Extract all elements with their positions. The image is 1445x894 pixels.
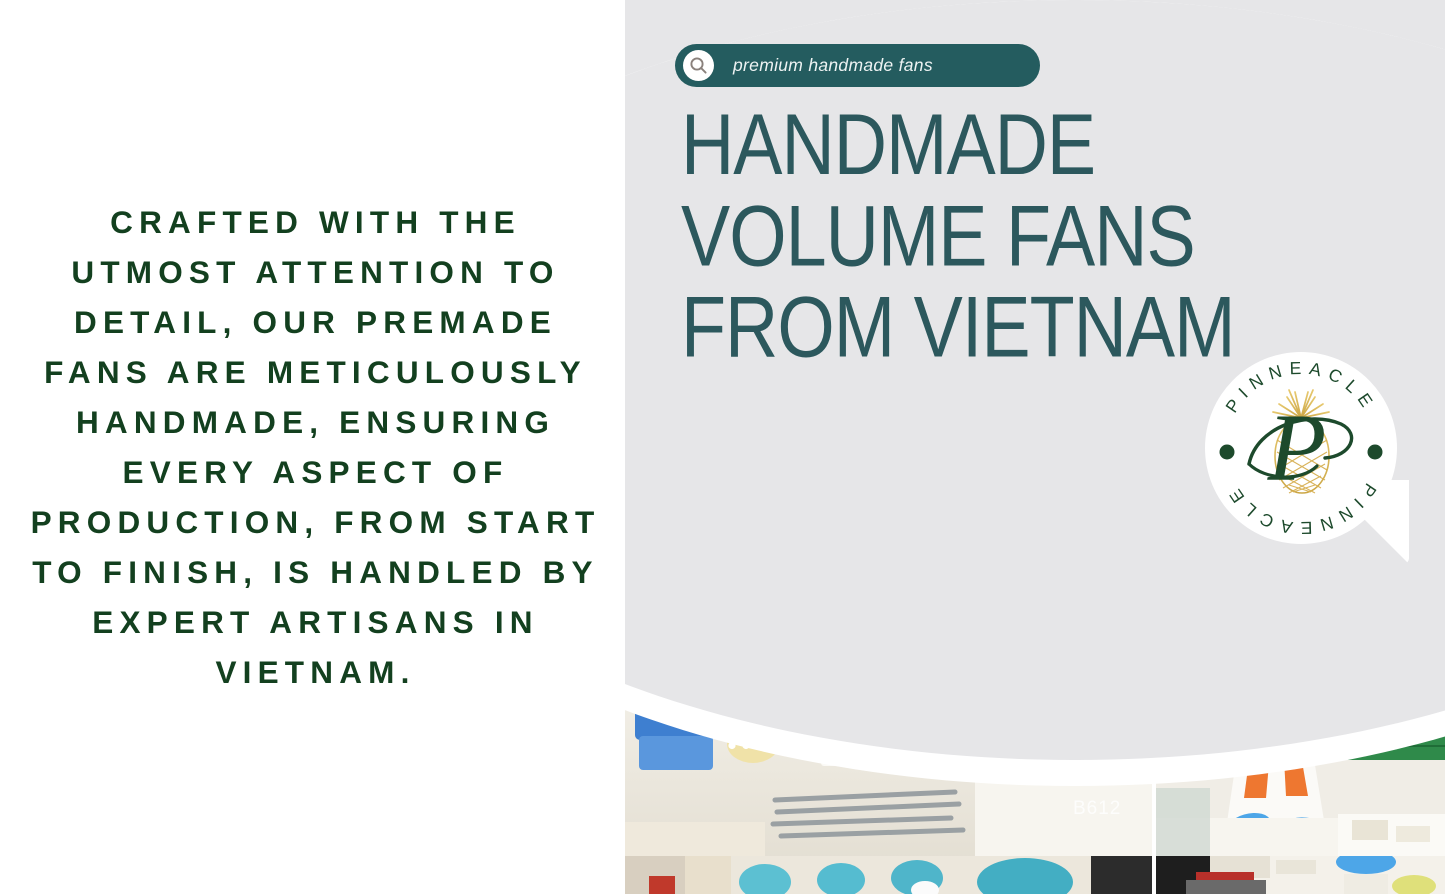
poster-root: CRAFTED WITH THE UTMOST ATTENTION TO DET… bbox=[0, 0, 1445, 894]
photo-watermark: B612 bbox=[1073, 798, 1121, 820]
photo-factory-workers-main bbox=[625, 352, 1152, 870]
logo-dot-right bbox=[1368, 445, 1383, 460]
search-bar[interactable]: premium handmade fans bbox=[675, 44, 1040, 87]
right-hero-panel: premium handmade fans HANDMADE VOLUME FA… bbox=[625, 0, 1445, 894]
search-input-value[interactable]: premium handmade fans bbox=[733, 55, 933, 76]
svg-text:P: P bbox=[1267, 394, 1327, 501]
logo-dot-left bbox=[1220, 445, 1235, 460]
pinneacle-logo-badge: PINNEACLE PINNEACLE bbox=[1205, 352, 1397, 544]
marketing-body-copy: CRAFTED WITH THE UTMOST ATTENTION TO DET… bbox=[23, 197, 603, 697]
shopping-cart-icon bbox=[717, 718, 755, 752]
page-title: HANDMADE VOLUME FANS FROM VIETNAM bbox=[681, 100, 1418, 374]
search-icon[interactable] bbox=[683, 50, 714, 81]
left-text-panel: CRAFTED WITH THE UTMOST ATTENTION TO DET… bbox=[0, 0, 625, 894]
photo-strip-bottom-right bbox=[1156, 856, 1445, 894]
photo-strip-bottom-left bbox=[625, 856, 1152, 894]
photo-worker-right-bottom bbox=[1156, 668, 1445, 870]
photo-collage: Xưởng M ĐỨC HỒNG, VN 0367 bbox=[625, 330, 1445, 894]
